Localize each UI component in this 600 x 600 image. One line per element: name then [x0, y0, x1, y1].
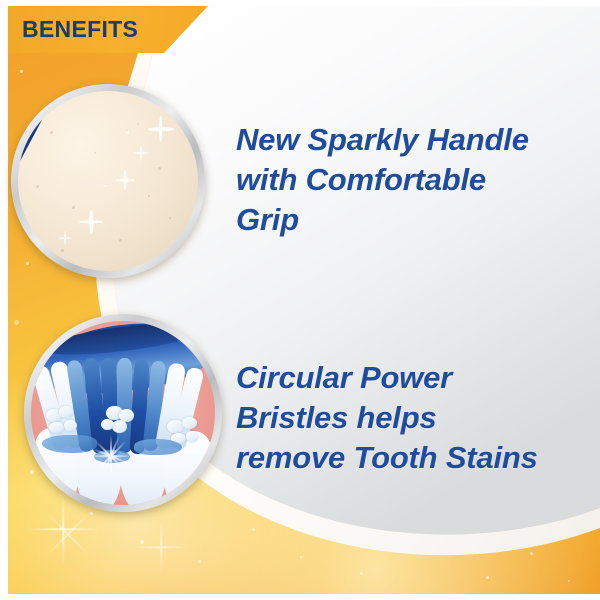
benefits-banner-label: BENEFITS — [22, 16, 138, 43]
benefit-line: with Comfortable — [236, 160, 581, 200]
benefit-line: Bristles helps — [236, 398, 591, 438]
benefit-text-sparkly-handle: New Sparkly Handle with Comfortable Grip — [236, 120, 581, 240]
bristles-photo — [31, 321, 215, 505]
handle-photo — [18, 91, 198, 271]
benefits-infographic: BENEFITS — [0, 0, 600, 600]
benefit-image-circular-power-bristles — [24, 314, 222, 512]
benefit-line: New Sparkly Handle — [236, 120, 581, 160]
benefit-line: Grip — [236, 200, 581, 240]
benefit-line: Circular Power — [236, 358, 591, 398]
benefit-line: remove Tooth Stains — [236, 438, 591, 478]
benefit-text-circular-power-bristles: Circular Power Bristles helps remove Too… — [236, 358, 591, 478]
benefit-image-sparkly-handle — [11, 84, 205, 278]
